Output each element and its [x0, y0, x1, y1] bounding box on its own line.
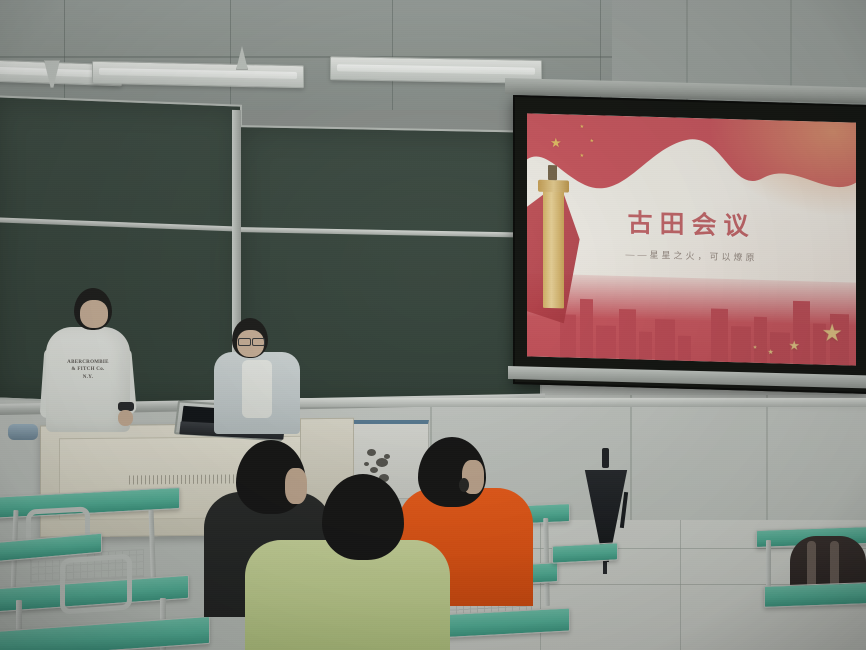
umbrella-handle	[602, 448, 609, 468]
flag-star-small-2: ★	[590, 139, 594, 144]
gold-star-large: ★	[821, 321, 843, 346]
glasses-right-lens	[252, 338, 265, 346]
desk-top	[552, 542, 618, 563]
flag-star-small-3: ★	[580, 154, 584, 159]
student-ear	[459, 478, 469, 492]
slide-skyline	[527, 274, 856, 366]
gold-star-small-2: ★	[753, 346, 757, 351]
presentation-slide: ★ ★ ★ ★	[527, 113, 856, 365]
monument-tip-icon	[548, 165, 557, 180]
presenter-face	[80, 300, 108, 328]
presenter-hand	[118, 410, 133, 426]
monument-cap-icon	[538, 179, 569, 192]
flag-star-large: ★	[550, 136, 562, 149]
chair-backrest	[60, 553, 132, 614]
glasses-left-lens	[238, 338, 251, 346]
gold-star-medium: ★	[788, 339, 800, 352]
gold-star-small-1: ★	[767, 349, 773, 356]
classroom-photo: ★ ★ ★ ★	[0, 0, 866, 650]
water-bottle	[8, 424, 38, 440]
wall-ledge	[300, 398, 866, 407]
slide-gold-wash	[705, 118, 856, 219]
desk-top	[764, 582, 866, 608]
tshirt-graphic: ABERCROMBIE & FITCH Co. N.Y.	[46, 359, 130, 382]
projection-screen[interactable]: ★ ★ ★ ★	[513, 95, 866, 394]
fluorescent-tube-center	[92, 61, 304, 88]
flag-star-small-1: ★	[580, 125, 584, 130]
student-cheek	[285, 468, 307, 504]
presenter-b-torso	[214, 352, 300, 434]
slide-subtitle: ——星星之火，可以燎原	[527, 245, 856, 267]
podium-vents	[129, 474, 242, 485]
